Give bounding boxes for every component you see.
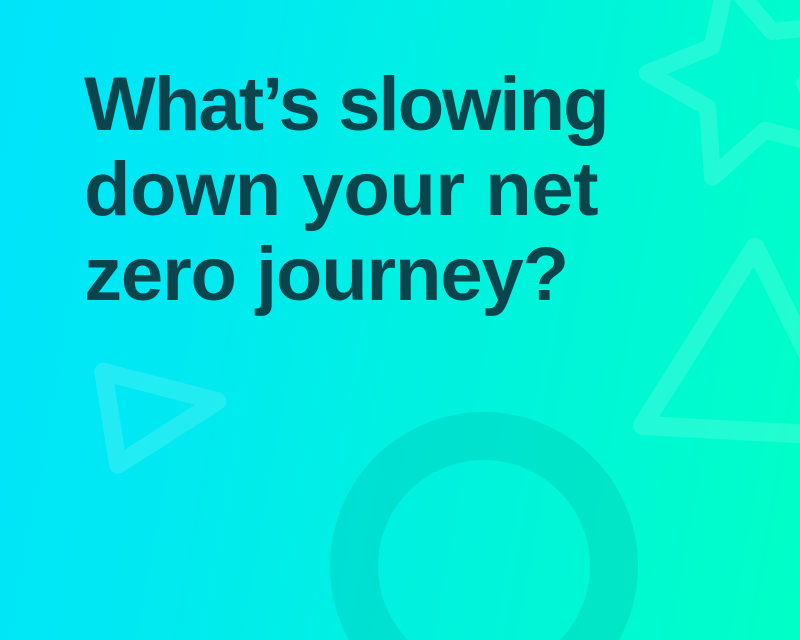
- circle-icon: [330, 412, 638, 640]
- play-icon: [88, 345, 236, 475]
- headline-line-2: down your net: [84, 147, 764, 232]
- social-card-canvas: What’s slowing down your net zero journe…: [0, 0, 800, 640]
- headline: What’s slowing down your net zero journe…: [84, 62, 764, 317]
- headline-line-3: zero journey?: [84, 232, 764, 317]
- headline-line-1: What’s slowing: [84, 62, 764, 147]
